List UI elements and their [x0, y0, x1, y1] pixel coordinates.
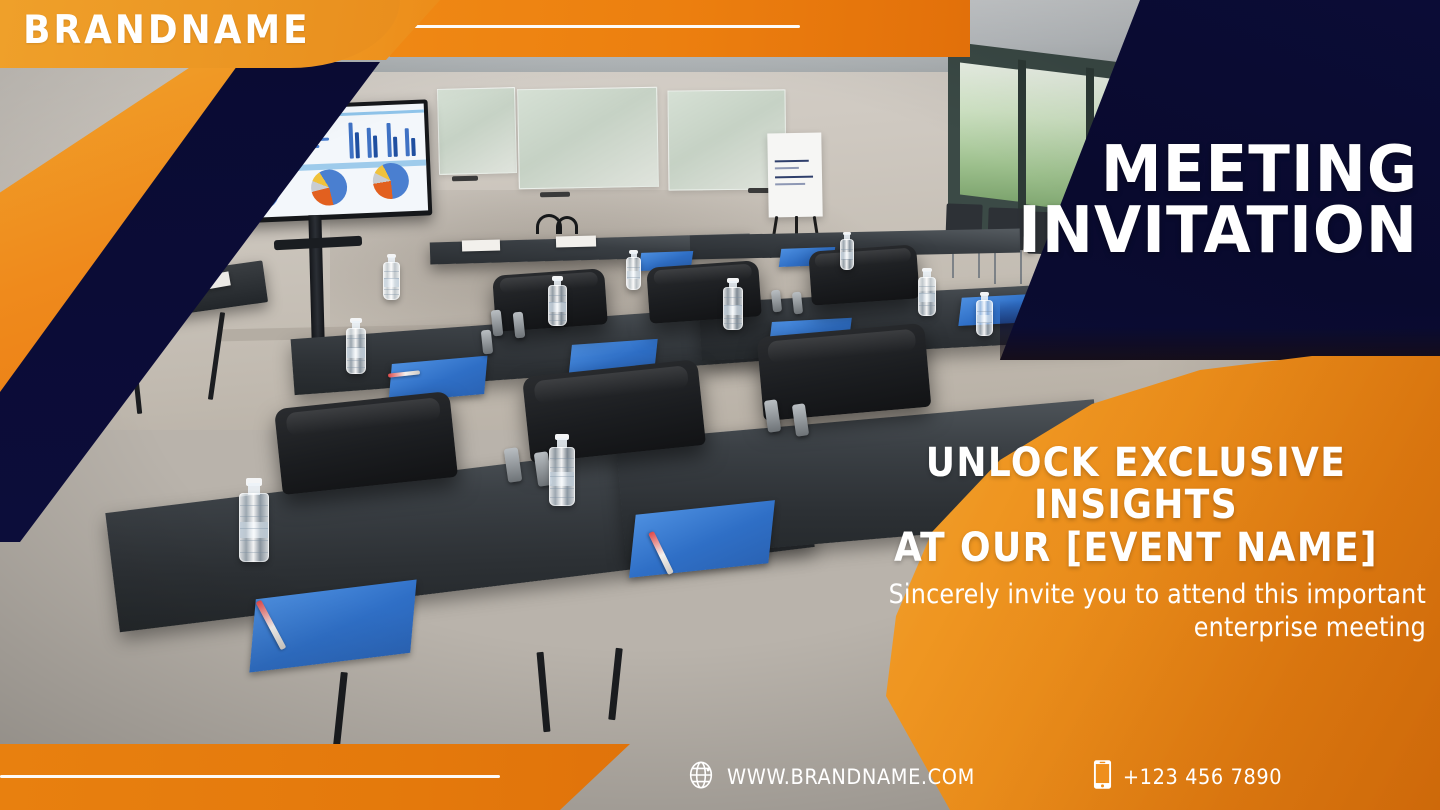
- phone-text: +123 456 7890: [1123, 765, 1282, 790]
- top-band-rule: [400, 25, 800, 28]
- mobile-phone-icon: [1093, 759, 1112, 795]
- subheading-block: UNLOCK EXCLUSIVE INSIGHTS AT OUR [EVENT …: [840, 442, 1432, 569]
- website-contact[interactable]: WWW.BRANDNAME.COM: [686, 760, 975, 795]
- footer-bar-rule: [0, 775, 500, 778]
- body-text-block: Sincerely invite you to attend this impo…: [800, 578, 1432, 644]
- brand-name: BRANDNAME: [23, 8, 310, 53]
- title-line-2: INVITATION: [986, 201, 1418, 262]
- website-text: WWW.BRANDNAME.COM: [727, 765, 975, 790]
- meeting-invitation-poster: BRANDNAME MEETING INVITATION UNLOCK EXCL…: [0, 0, 1440, 810]
- footer-contact-row: WWW.BRANDNAME.COM +123 456 7890: [686, 748, 1440, 806]
- body-line-2: enterprise meeting: [800, 611, 1426, 644]
- body-line-1: Sincerely invite you to attend this impo…: [800, 578, 1426, 611]
- subheading-line-2: AT OUR [EVENT NAME]: [840, 527, 1432, 569]
- phone-contact[interactable]: +123 456 7890: [1093, 759, 1282, 795]
- subheading-line-1: UNLOCK EXCLUSIVE INSIGHTS: [840, 442, 1432, 527]
- title-block: MEETING INVITATION: [1010, 140, 1434, 263]
- title-line-1: MEETING: [986, 140, 1418, 201]
- right-navy-fade: [1000, 300, 1440, 360]
- globe-icon: [686, 760, 716, 795]
